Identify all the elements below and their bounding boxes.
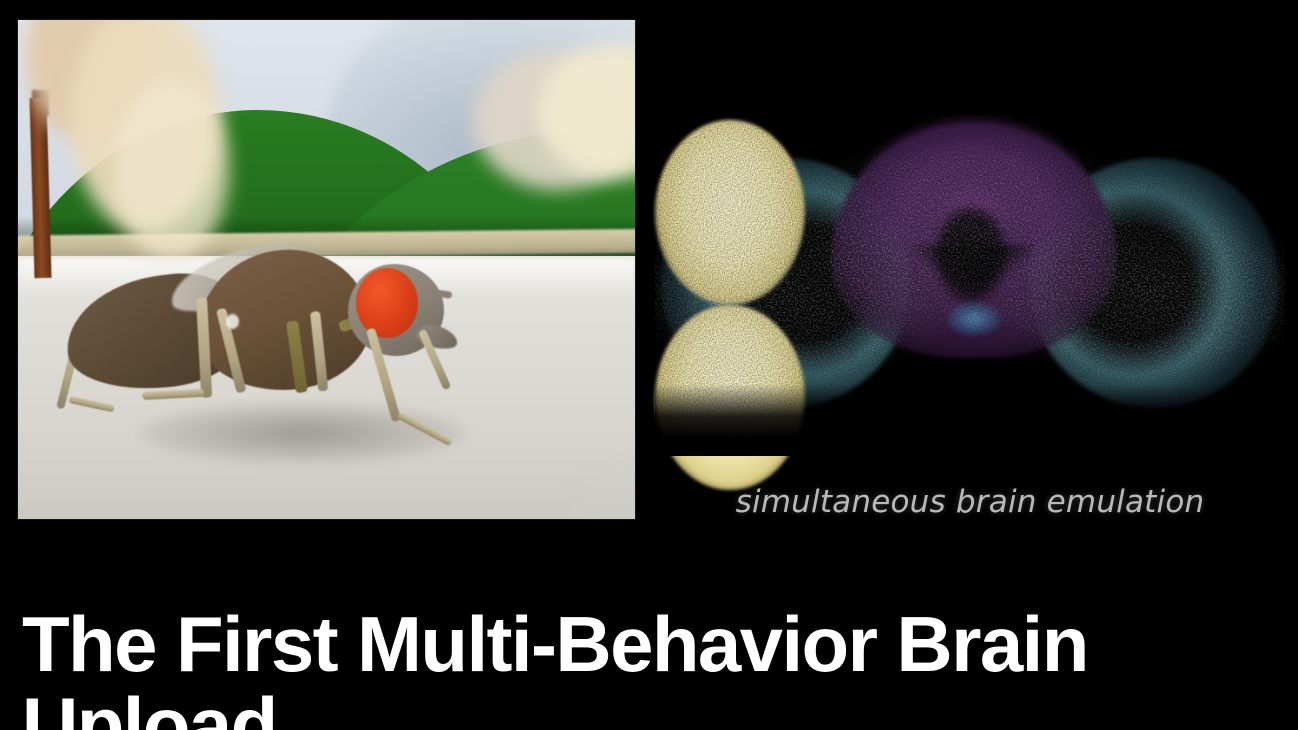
fly-leg-rear-lower [69,396,115,412]
foreground-blob-left-c [114,80,229,260]
brain-point-cloud-render [655,120,1285,450]
brain-bottom-fade [655,384,1285,456]
fly-leg-foreleg-lower [397,412,453,446]
brain-render-caption: simultaneous brain emulation [655,487,1285,518]
fly-leg-mid-lower [142,389,204,400]
central-brain-notch [935,206,1007,302]
fly-scene [18,20,635,519]
brain-stage [655,120,1285,450]
fly-model [48,236,478,456]
central-brain-blue-highlight [947,302,1001,336]
fly-eye [356,268,418,338]
page-root: simultaneous brain emulation The First M… [0,0,1298,730]
fly-body-highlight [226,314,239,329]
optic-lobe-left-core [655,120,805,305]
page-title: The First Multi-Behavior Brain Upload [22,604,1282,730]
media-row: simultaneous brain emulation [0,0,1298,585]
fly-simulation-render [18,20,635,519]
